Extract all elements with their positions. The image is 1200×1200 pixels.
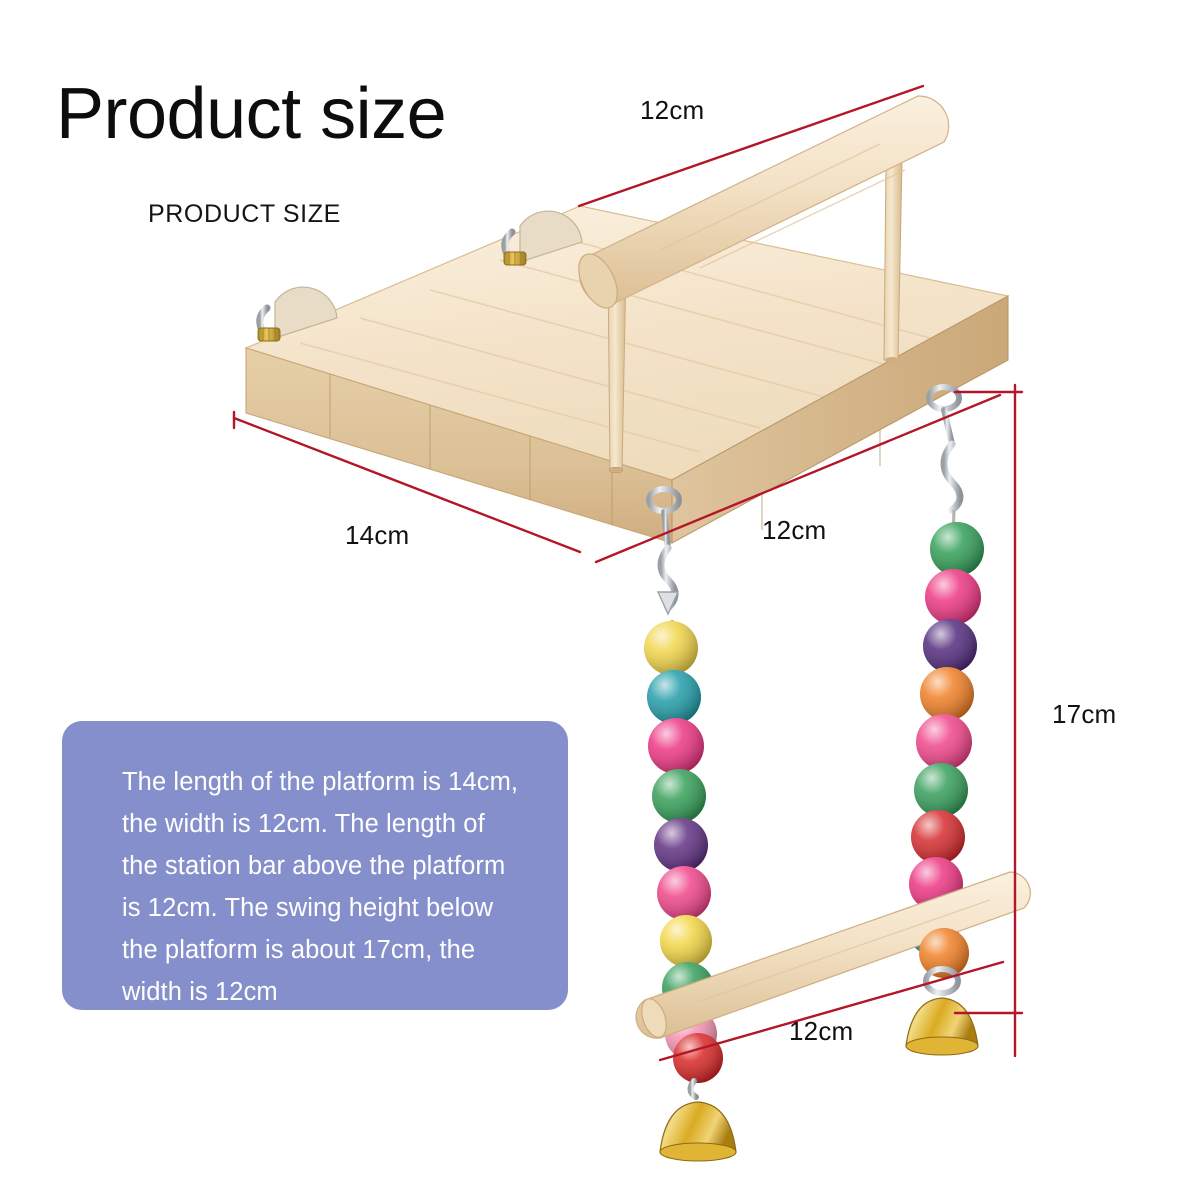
- s-hook-left: [658, 548, 678, 614]
- bead: [657, 866, 711, 920]
- dimension-line-top-bar: [579, 86, 923, 206]
- page-title: Product size: [56, 78, 446, 150]
- bead: [907, 903, 959, 955]
- clamp-lower: [258, 287, 337, 341]
- bead: [909, 857, 963, 911]
- bead: [644, 621, 698, 675]
- s-hook-right: [944, 444, 960, 510]
- bead-chain-left: [644, 620, 717, 1060]
- perch-dowel-left: [608, 268, 626, 473]
- bead: [673, 1033, 723, 1083]
- bead: [920, 667, 974, 721]
- dimension-label-platform-width: 12cm: [762, 515, 826, 546]
- product-illustration: [0, 0, 1200, 1200]
- bead: [925, 569, 981, 625]
- screw-eye-right: [929, 387, 959, 444]
- dimension-label-top-bar: 12cm: [640, 95, 704, 126]
- bead: [652, 769, 706, 823]
- description-text: The length of the platform is 14cm, the …: [122, 761, 524, 1013]
- top-perch-bar: [571, 96, 949, 473]
- screw-eye-left: [649, 489, 679, 548]
- wood-grain: [300, 236, 952, 452]
- dimension-label-swing-height: 17cm: [1052, 699, 1116, 730]
- edge-grain: [330, 374, 880, 530]
- dimension-label-swing-width: 12cm: [789, 1016, 853, 1047]
- infographic-canvas: Product size PRODUCT SIZE 12cm 14cm 12cm…: [0, 0, 1200, 1200]
- bead: [914, 763, 968, 817]
- bead: [660, 915, 712, 967]
- page-subtitle: PRODUCT SIZE: [148, 200, 341, 229]
- perch-bar-cylinder: [571, 96, 949, 314]
- clamp-upper: [504, 211, 582, 265]
- bead: [919, 928, 969, 978]
- bead: [923, 619, 977, 673]
- bead-chain-right: [907, 510, 984, 955]
- platform-board: [246, 206, 1008, 543]
- bead: [916, 714, 972, 770]
- bead: [654, 818, 708, 872]
- bead: [662, 962, 714, 1014]
- dimension-label-platform-length: 14cm: [345, 520, 409, 551]
- bead: [911, 810, 965, 864]
- bead: [647, 670, 701, 724]
- bead: [930, 522, 984, 576]
- bell-right: [906, 928, 978, 1055]
- bell-left: [660, 1033, 736, 1161]
- perch-dowel-right: [884, 162, 902, 363]
- bead: [665, 1008, 717, 1060]
- description-callout: The length of the platform is 14cm, the …: [62, 721, 568, 1010]
- bead: [648, 718, 704, 774]
